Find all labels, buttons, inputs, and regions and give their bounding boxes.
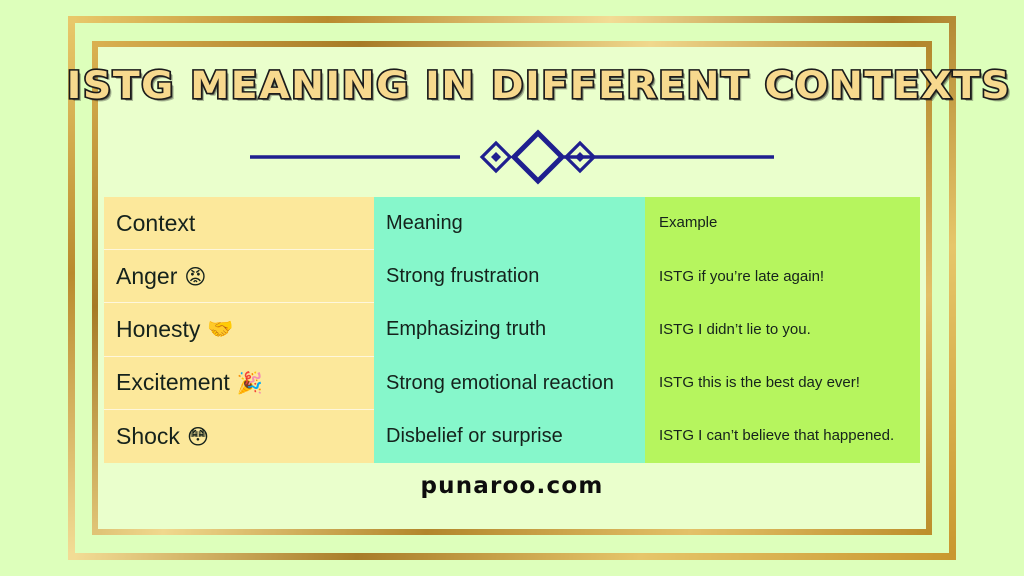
diamond-ornament-divider (232, 128, 792, 186)
handshake-emoji: 🤝 (207, 316, 233, 342)
example-text: ISTG I can’t believe that happened. (659, 426, 894, 446)
table-row: ISTG I didn’t lie to you. (645, 303, 920, 356)
page-title: ISTG MEANING IN DIFFERENT CONTEXTS (67, 66, 957, 107)
header-label: Example (659, 213, 717, 233)
meaning-text: Emphasizing truth (386, 318, 546, 341)
table-row: ISTG if you’re late again! (645, 250, 920, 303)
meaning-text: Disbelief or surprise (386, 425, 563, 448)
context-label: Honesty (116, 316, 200, 343)
table-row: ISTG this is the best day ever! (645, 357, 920, 410)
table-header-context: Context (104, 197, 374, 250)
example-text: ISTG I didn’t lie to you. (659, 320, 811, 340)
context-label: Excitement (116, 369, 230, 396)
meaning-text: Strong emotional reaction (386, 372, 614, 395)
table-row: Honesty 🤝 (104, 303, 374, 356)
table-column-context: Context Anger 😡 Honesty 🤝 Excitement 🎉 S… (104, 197, 374, 463)
divider-svg (232, 128, 792, 186)
table-row: Disbelief or surprise (374, 410, 645, 463)
header-label: Context (116, 210, 195, 237)
table-row: Anger 😡 (104, 250, 374, 303)
table-row: Strong frustration (374, 250, 645, 303)
table-row: ISTG I can’t believe that happened. (645, 410, 920, 463)
divider-dot-left (491, 152, 501, 162)
context-label: Shock (116, 423, 180, 450)
angry-face-emoji: 😡 (184, 264, 206, 289)
example-text: ISTG this is the best day ever! (659, 373, 860, 393)
party-popper-emoji: 🎉 (237, 370, 263, 396)
table-column-meaning: Meaning Strong frustration Emphasizing t… (374, 197, 645, 463)
table-header-example: Example (645, 197, 920, 250)
table-row: Strong emotional reaction (374, 357, 645, 410)
table-column-example: Example ISTG if you’re late again! ISTG … (645, 197, 920, 463)
istg-contexts-table: Context Anger 😡 Honesty 🤝 Excitement 🎉 S… (104, 197, 920, 463)
header-label: Meaning (386, 212, 463, 235)
flushed-face-emoji: 😳 (187, 424, 209, 449)
site-credit: punaroo.com (92, 473, 932, 499)
table-header-meaning: Meaning (374, 197, 645, 250)
table-row: Excitement 🎉 (104, 357, 374, 410)
infographic-poster: ISTG MEANING IN DIFFERENT CONTEXTS Conte… (0, 0, 1024, 576)
example-text: ISTG if you’re late again! (659, 267, 824, 287)
context-label: Anger (116, 263, 177, 290)
table-row: Shock 😳 (104, 410, 374, 463)
table-row: Emphasizing truth (374, 303, 645, 356)
divider-dot-right (575, 152, 585, 162)
meaning-text: Strong frustration (386, 265, 539, 288)
divider-center-diamond (514, 133, 562, 181)
